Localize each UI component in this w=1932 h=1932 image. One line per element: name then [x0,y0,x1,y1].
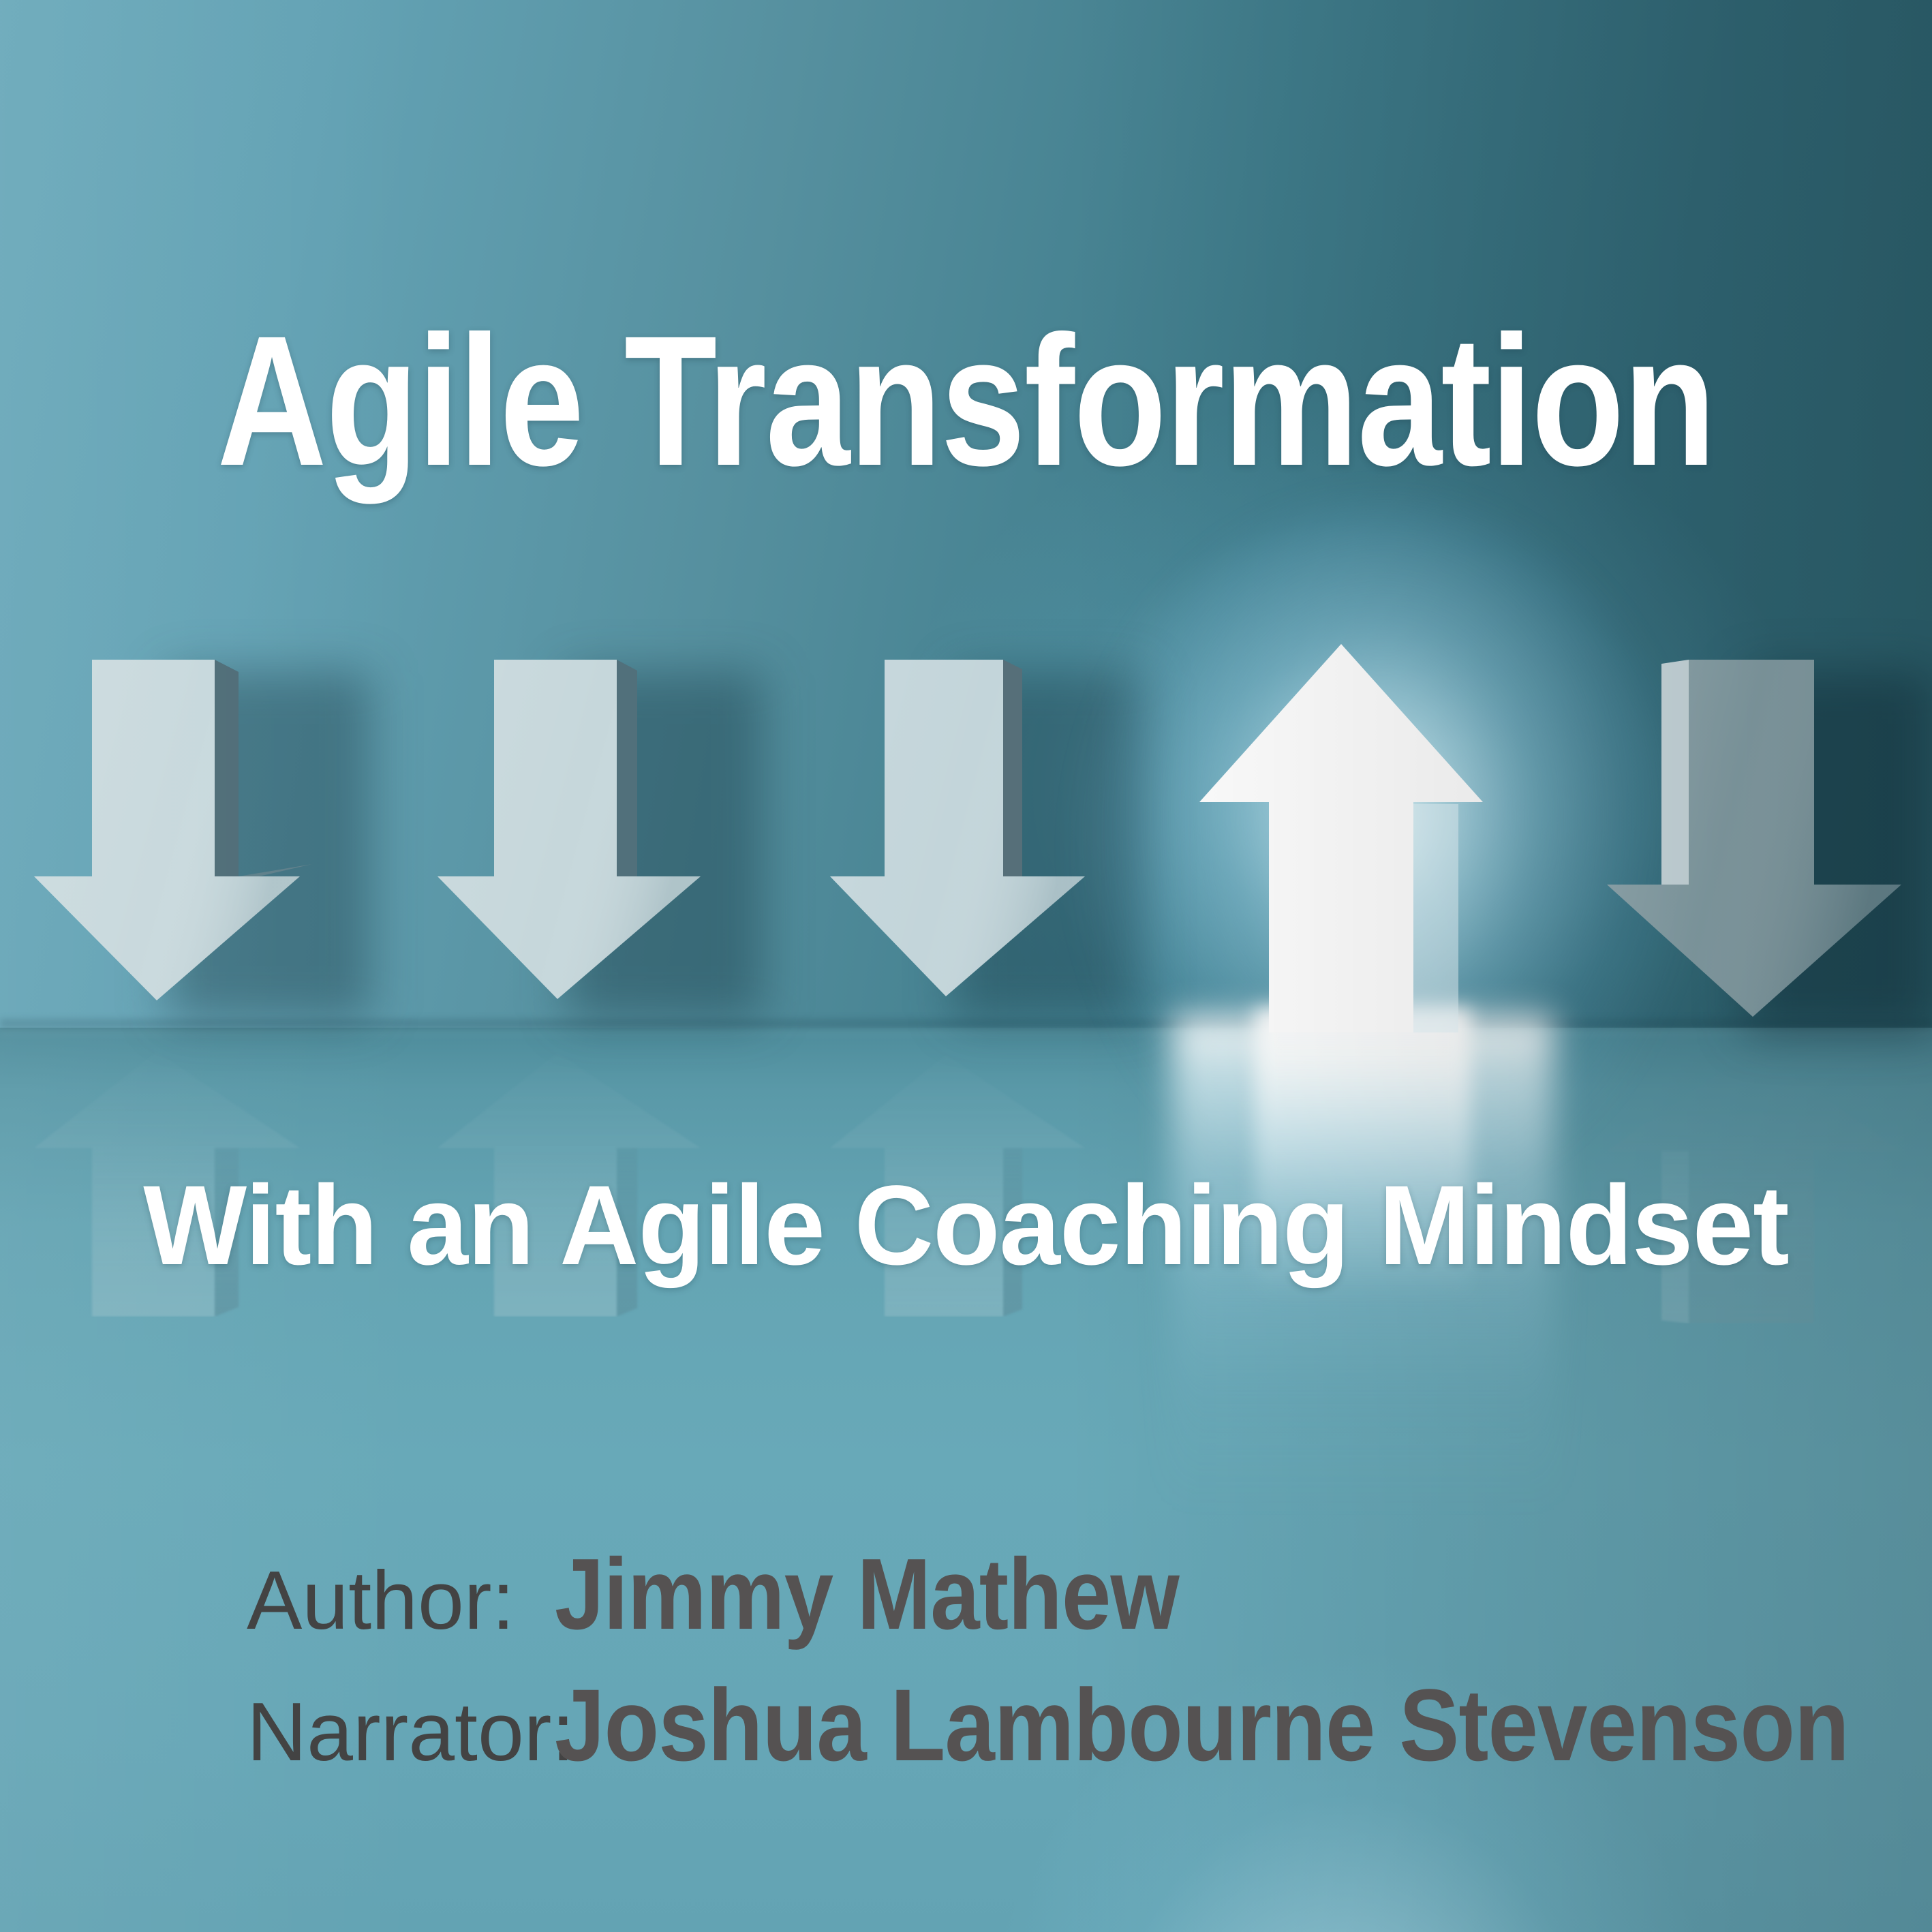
arrow-down-3-shape [818,660,1145,1028]
credit-row-author: Author: Jimmy Mathew [247,1542,1835,1647]
arrow-up-highlight [1186,644,1540,1032]
author-name: Jimmy Mathew [555,1542,1179,1647]
audiobook-cover: Agile Transformation With an Agile Coach… [0,0,1932,1932]
author-label: Author: [247,1557,555,1644]
credits-block: Author: Jimmy Mathew Narrator: Joshua La… [247,1542,1835,1779]
narrator-name: Joshua Lambourne Stevenson [555,1672,1849,1779]
arrow-down-3 [818,660,1145,1028]
credit-row-narrator: Narrator: Joshua Lambourne Stevenson [247,1672,1835,1779]
subtitle: With an Agile Coaching Mindset [29,1169,1903,1283]
arrow-down-1 [27,660,354,1028]
narrator-label: Narrator: [247,1688,555,1775]
arrow-down-1-shape [27,660,354,1028]
arrow-down-2-shape [429,660,756,1028]
page-title: Agile Transformation [174,308,1758,493]
arrow-down-4-shape [1574,660,1915,1041]
arrow-down-4 [1574,660,1915,1041]
arrow-down-2 [429,660,756,1028]
arrow-up-highlight-shape [1186,644,1540,1032]
